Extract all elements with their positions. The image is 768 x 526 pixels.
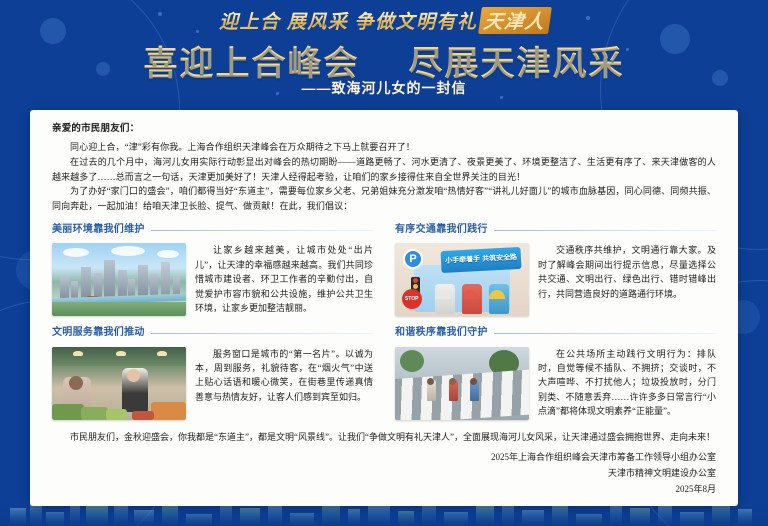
section-title: 有序交通靠我们践行 xyxy=(395,222,488,238)
stop-sign-icon: STOP xyxy=(402,289,422,309)
section-text: 交通秩序共维护，文明通行靠大家。及时了解峰会期间出行提示信息，尽量选择公共交通、… xyxy=(538,243,716,301)
section-rule xyxy=(494,230,716,231)
calligraphy-slogan: 迎上合 展风采 争做文明有礼天津人 xyxy=(0,7,768,34)
section-body: 服务窗口是城市的“第一名片”。以诚为本，周到服务，礼貌待客，在“烟火气”中送上贴… xyxy=(52,347,373,420)
section-rule xyxy=(494,333,716,334)
traffic-safety-photo: P 小手牵着手 共筑安全路 STOP xyxy=(395,243,529,316)
crosswalk-order-photo xyxy=(395,347,529,420)
salutation: 亲爱的市民朋友们： xyxy=(52,122,716,137)
section-beautiful-environment: 美丽环境靠我们维护 xyxy=(52,222,373,316)
poster-root: 迎上合 展风采 争做文明有礼天津人 喜迎上合峰会 尽展天津风采 ——致海河儿女的… xyxy=(0,0,768,526)
letter-paragraph: 在过去的几个月中，海河儿女用实际行动彰显出对峰会的热切期盼——道路更畅了、河水更… xyxy=(52,155,716,184)
section-body: 在公共场所主动践行文明行为：排队时，自觉等候不插队、不拥挤；交谈时，不大声喧哗、… xyxy=(395,347,716,420)
section-text: 让家乡越来越美，让城市处处“出片儿”，让天津的幸福感越来越高。我们共同珍惜城市建… xyxy=(195,243,373,315)
section-title: 美丽环境靠我们维护 xyxy=(52,222,145,238)
signature-date: 2025年8月 xyxy=(52,482,716,498)
page-subtitle: ——致海河儿女的一封信 xyxy=(0,78,768,98)
closing-paragraph: 市民朋友们，金秋迎盛会，你我都是“东道主”，都是文明“风景线”。让我们“争做文明… xyxy=(52,430,716,445)
section-rule xyxy=(151,230,373,231)
calligraphy-seal: 天津人 xyxy=(478,7,551,34)
section-harmonious-order: 和谐秩序靠我们守护 在公共场所主动践行文明行 xyxy=(395,325,716,419)
letter-card: 亲爱的市民朋友们： 同心迎上合，“津”彩有你我。上海合作组织天津峰会在万众期待之… xyxy=(30,110,738,506)
section-header: 文明服务靠我们推动 xyxy=(52,325,373,341)
signature-block: 2025年上海合作组织峰会天津市筹备工作领导小组办公室 天津市精神文明建设办公室… xyxy=(52,450,716,497)
section-civilized-service: 文明服务靠我们推动 xyxy=(52,325,373,419)
section-body: P 小手牵着手 共筑安全路 STOP 交通秩序共维护，文明通行靠大家。及 xyxy=(395,243,716,316)
letter-paragraph: 同心迎上合，“津”彩有你我。上海合作组织天津峰会在万众期待之下马上就要召开了！ xyxy=(52,140,716,155)
poster-header: 迎上合 展风采 争做文明有礼天津人 喜迎上合峰会 尽展天津风采 ——致海河儿女的… xyxy=(0,0,768,104)
section-text: 在公共场所主动践行文明行为：排队时，自觉等候不插队、不拥挤；交谈时，不大声喧哗、… xyxy=(538,347,716,419)
section-orderly-traffic: 有序交通靠我们践行 P 小手牵着手 共筑安全路 STOP xyxy=(395,222,716,316)
proposal-sections: 美丽环境靠我们维护 xyxy=(52,222,716,419)
calligraphy-text: 迎上合 展风采 争做文明有礼 xyxy=(219,12,478,33)
photo-caption-banner: 小手牵着手 共筑安全路 xyxy=(440,247,521,273)
section-header: 和谐秩序靠我们守护 xyxy=(395,325,716,341)
market-service-photo xyxy=(52,347,186,420)
section-text: 服务窗口是城市的“第一名片”。以诚为本，周到服务，礼貌待客，在“烟火气”中送上贴… xyxy=(195,347,373,405)
section-header: 有序交通靠我们践行 xyxy=(395,222,716,238)
section-title: 文明服务靠我们推动 xyxy=(52,325,145,341)
tianjin-skyline-photo xyxy=(52,243,186,316)
bottom-glow xyxy=(0,508,768,526)
section-body: 让家乡越来越美，让城市处处“出片儿”，让天津的幸福感越来越高。我们共同珍惜城市建… xyxy=(52,243,373,316)
letter-paragraph: 为了办好“家门口的盛会”，咱们都得当好“东道主”，需要每位家乡父老、兄弟姐妹充分… xyxy=(52,184,716,213)
signature-line: 2025年上海合作组织峰会天津市筹备工作领导小组办公室 xyxy=(52,450,716,466)
section-header: 美丽环境靠我们维护 xyxy=(52,222,373,238)
section-rule xyxy=(151,333,373,334)
section-title: 和谐秩序靠我们守护 xyxy=(395,325,488,341)
signature-line: 天津市精神文明建设办公室 xyxy=(52,466,716,482)
